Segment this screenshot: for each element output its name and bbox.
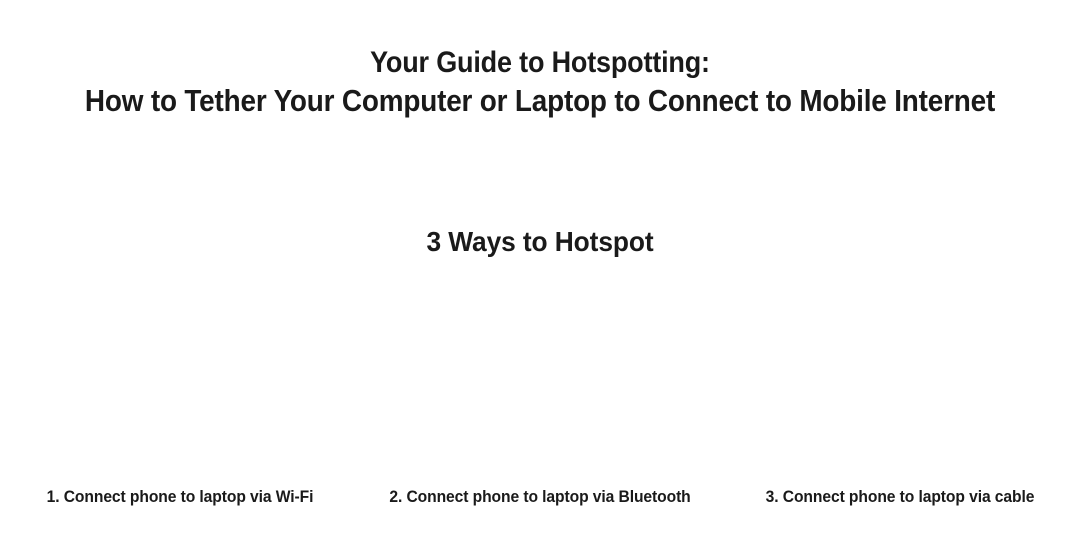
method-caption-wifi: 1. Connect phone to laptop via Wi-Fi — [14, 486, 345, 508]
section-heading: 3 Ways to Hotspot — [32, 224, 1047, 260]
infographic-page: Your Guide to Hotspotting: How to Tether… — [0, 0, 1080, 552]
illustration-slot-bluetooth — [360, 286, 720, 474]
illustration-slot-wifi — [0, 286, 360, 474]
method-caption-cable: 3. Connect phone to laptop via cable — [734, 486, 1065, 508]
method-caption-bluetooth: 2. Connect phone to laptop via Bluetooth — [374, 486, 705, 508]
illustration-slot-cable — [720, 286, 1080, 474]
title-line-2: How to Tether Your Computer or Laptop to… — [54, 82, 1026, 120]
page-title: Your Guide to Hotspotting: How to Tether… — [0, 44, 1080, 120]
caption-row: 1. Connect phone to laptop via Wi-Fi 2. … — [0, 486, 1080, 508]
illustration-row — [0, 286, 1080, 474]
title-line-1: Your Guide to Hotspotting: — [54, 44, 1026, 82]
